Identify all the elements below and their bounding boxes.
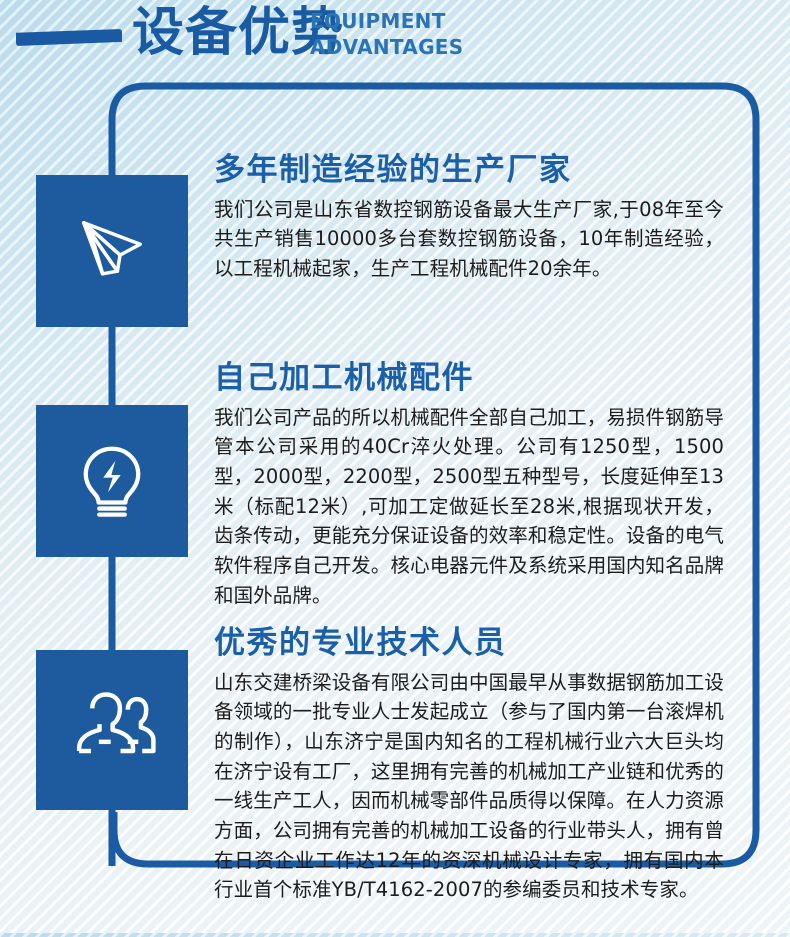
dash-mark-icon xyxy=(16,29,122,46)
paper-plane-icon xyxy=(69,208,155,294)
section-1: 多年制造经验的生产厂家 我们公司是山东省数控钢筋设备最大生产厂家,于08年至今共… xyxy=(214,152,724,284)
section-2: 自己加工机械配件 我们公司产品的所以机械配件全部自己加工，易损件钢筋导管本公司采… xyxy=(214,360,724,610)
two-people-icon xyxy=(66,684,158,776)
section-1-text: 我们公司是山东省数控钢筋设备最大生产厂家,于08年至今共生产销售10000多台套… xyxy=(214,195,724,284)
icon-box-paper-plane xyxy=(36,175,188,327)
page-header: 设备优势 EQUIPMENT ADVANTAGES xyxy=(0,0,790,78)
section-3: 优秀的专业技术人员 山东交建桥梁设备有限公司由中国最早从事数据钢筋加工设备领域的… xyxy=(214,625,724,905)
section-2-title: 自己加工机械配件 xyxy=(214,360,724,398)
icon-box-lightbulb xyxy=(36,405,188,557)
page-title-en: EQUIPMENT ADVANTAGES xyxy=(310,8,463,61)
section-1-title: 多年制造经验的生产厂家 xyxy=(214,152,724,190)
section-3-title: 优秀的专业技术人员 xyxy=(214,625,724,663)
icon-box-two-people xyxy=(36,650,188,810)
page-title-en-line2: ADVANTAGES xyxy=(310,34,463,60)
lightbulb-bolt-icon xyxy=(69,438,155,524)
section-2-text: 我们公司产品的所以机械配件全部自己加工，易损件钢筋导管本公司采用的40Cr淬火处… xyxy=(214,403,724,610)
section-3-text: 山东交建桥梁设备有限公司由中国最早从事数据钢筋加工设备领域的一批专业人士发起成立… xyxy=(214,668,724,905)
page-title-en-line1: EQUIPMENT xyxy=(310,8,463,34)
